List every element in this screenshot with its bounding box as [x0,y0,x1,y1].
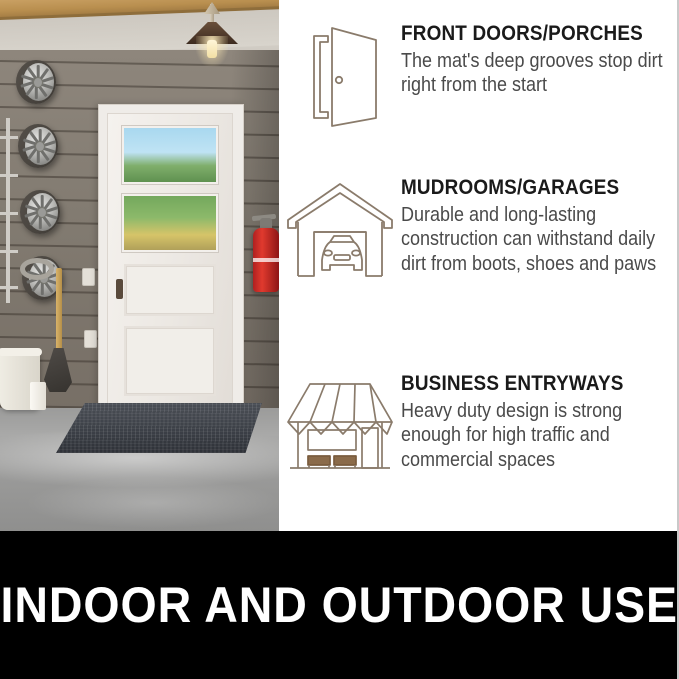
fire-extinguisher-band [253,258,279,262]
feature-body: Heavy duty design is strong enough for h… [401,399,665,472]
door-panel-upper [124,264,216,316]
infographic-root: FRONT DOORS/PORCHES The mat's deep groov… [0,0,679,679]
door-glass-lite-bottom [122,194,218,252]
feature-body: Durable and long-lasting construction ca… [401,203,665,276]
entry-door-frame [98,104,244,410]
step-ladder [0,118,10,303]
banner-headline: INDOOR AND OUTDOOR USE [1,576,679,634]
feature-text: FRONT DOORS/PORCHES The mat's deep groov… [401,22,679,98]
feature-item-front-doors: FRONT DOORS/PORCHES The mat's deep groov… [279,22,679,132]
feature-title: FRONT DOORS/PORCHES [401,22,643,45]
feature-title: MUDROOMS/GARAGES [401,176,633,199]
feature-item-business: BUSINESS ENTRYWAYS Heavy duty design is … [279,372,679,478]
alloy-wheel [16,60,56,104]
paper-roll [30,382,46,410]
ceiling [0,0,279,52]
door-handle [116,279,123,299]
floor-sheen-secondary [28,478,279,528]
doormat-texture [56,403,262,453]
garage-with-car-icon [279,176,401,280]
door-glass-lite-top [122,126,218,184]
entry-door-slab [107,113,233,409]
bottom-banner: INDOOR AND OUTDOOR USE [0,531,679,679]
wall-outlet [84,330,97,348]
alloy-wheel [20,190,60,234]
bucket-rim [0,348,42,356]
coiled-hose [20,258,54,280]
open-door-icon [279,22,401,132]
door-panel-lower [124,326,216,396]
feature-list: FRONT DOORS/PORCHES The mat's deep groov… [279,0,679,531]
feature-title: BUSINESS ENTRYWAYS [401,372,633,395]
shovel-handle [56,268,62,356]
doormat [56,403,262,453]
pendant-light-bulb [207,40,217,58]
feature-body: The mat's deep grooves stop dirt right f… [401,49,676,98]
feature-text: BUSINESS ENTRYWAYS Heavy duty design is … [401,372,679,472]
feature-text: MUDROOMS/GARAGES Durable and long-lastin… [401,176,679,276]
storefront-awning-icon [279,372,401,478]
alloy-wheel [18,124,58,168]
wall-outlet [82,268,95,286]
product-photo [0,0,279,531]
feature-item-mudrooms: MUDROOMS/GARAGES Durable and long-lastin… [279,176,679,280]
